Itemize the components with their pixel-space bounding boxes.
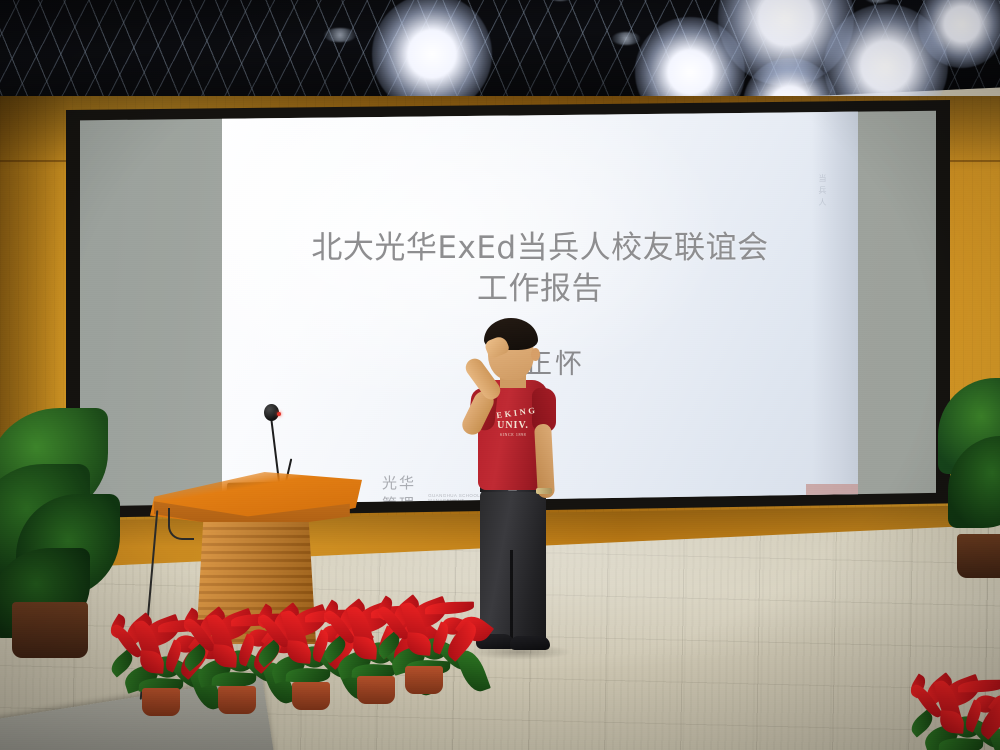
presenter-ear [531,348,540,361]
conference-hall-photo: 北大光华ExEd当兵人校友联谊会 工作报告 朱正怀 光华管理 GUANGHUA … [0,0,1000,750]
terracotta-pot [218,686,256,714]
lectern-cable-loop [168,508,194,540]
poinsettia-pot [372,600,476,692]
slide-title: 北大光华ExEd当兵人校友联谊会 工作报告 [222,228,858,310]
potted-green-plant-right [938,378,1000,578]
presenter-shoe-right [510,636,550,650]
presenter-trousers [480,490,546,642]
presenter-leg-separation [510,550,513,642]
poinsettia-red-bract [425,602,474,615]
potted-green-plant-left [0,408,117,658]
microphone-led-icon [277,412,281,416]
slide-title-line2: 工作报告 [222,269,858,310]
slide-edge-gradient [812,110,858,508]
terracotta-pot [142,688,180,716]
terracotta-pot [405,666,443,694]
slide-title-line1: 北大光华ExEd当兵人校友联谊会 [222,228,858,269]
ceiling-light-9 [612,32,641,45]
presenter-wristwatch [536,488,552,494]
poinsettia-pot [905,678,1000,750]
